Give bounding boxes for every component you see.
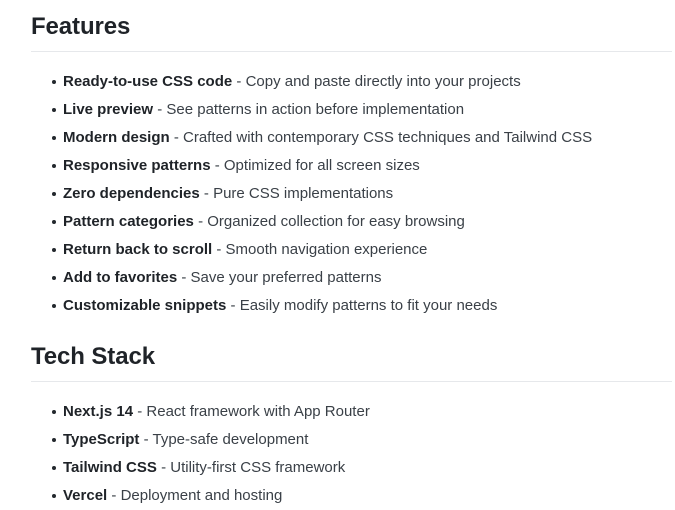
list-item-term: Zero dependencies [63, 185, 200, 202]
list-item-term: Ready-to-use CSS code [63, 73, 232, 90]
list-item-description: Save your preferred patterns [191, 269, 382, 286]
section-title-tech-stack: Tech Stack [31, 342, 672, 372]
list-item-description: Deployment and hosting [121, 487, 283, 504]
list-item: Tailwind CSS - Utility-first CSS framewo… [31, 454, 672, 482]
list-item-description: See patterns in action before implementa… [166, 101, 464, 118]
list-item-separator: - [174, 129, 179, 146]
list-item-term: Responsive patterns [63, 157, 211, 174]
list-item-separator: - [236, 73, 241, 90]
features-section-header: Features [31, 0, 672, 52]
list-item-separator: - [204, 185, 209, 202]
techstack-section-content: Next.js 14 - React framework with App Ro… [31, 382, 672, 510]
list-item-separator: - [137, 403, 142, 420]
list-item-description: Pure CSS implementations [213, 185, 393, 202]
list-item: Modern design - Crafted with contemporar… [31, 124, 672, 152]
list-item: Responsive patterns - Optimized for all … [31, 152, 672, 180]
list-item-description: Crafted with contemporary CSS techniques… [183, 129, 592, 146]
list-item: TypeScript - Type-safe development [31, 426, 672, 454]
features-section-content: Ready-to-use CSS code - Copy and paste d… [31, 52, 672, 320]
list-item-separator: - [161, 459, 166, 476]
list-item: Next.js 14 - React framework with App Ro… [31, 398, 672, 426]
list-item-term: Live preview [63, 101, 153, 118]
list-item-term: Customizable snippets [63, 297, 226, 314]
list-item-description: Copy and paste directly into your projec… [246, 73, 521, 90]
list-item-separator: - [144, 431, 149, 448]
list-item-term: Add to favorites [63, 269, 177, 286]
list-item-term: Return back to scroll [63, 241, 212, 258]
list-item-separator: - [216, 241, 221, 258]
list-item-term: Pattern categories [63, 213, 194, 230]
list-item-term: Next.js 14 [63, 403, 133, 420]
list-item-separator: - [181, 269, 186, 286]
list-item-description: Utility-first CSS framework [170, 459, 345, 476]
list-item: Ready-to-use CSS code - Copy and paste d… [31, 68, 672, 96]
list-item-description: React framework with App Router [146, 403, 369, 420]
techstack-section-header: Tech Stack [31, 320, 672, 382]
list-item: Pattern categories - Organized collectio… [31, 208, 672, 236]
list-item: Return back to scroll - Smooth navigatio… [31, 236, 672, 264]
list-item-separator: - [198, 213, 203, 230]
list-item-term: Tailwind CSS [63, 459, 157, 476]
list-item: Live preview - See patterns in action be… [31, 96, 672, 124]
list-item-description: Organized collection for easy browsing [207, 213, 465, 230]
list-item-separator: - [231, 297, 236, 314]
document-body: Features Ready-to-use CSS code - Copy an… [0, 0, 675, 510]
list-item: Add to favorites - Save your preferred p… [31, 264, 672, 292]
list-item: Customizable snippets - Easily modify pa… [31, 292, 672, 320]
list-item-term: TypeScript [63, 431, 139, 448]
list-item-description: Type-safe development [152, 431, 308, 448]
section-title-features: Features [31, 12, 672, 42]
list-item-description: Optimized for all screen sizes [224, 157, 420, 174]
list-item-description: Smooth navigation experience [226, 241, 428, 258]
list-item-separator: - [157, 101, 162, 118]
list-item-separator: - [111, 487, 116, 504]
features-list: Ready-to-use CSS code - Copy and paste d… [31, 68, 672, 320]
list-item: Vercel - Deployment and hosting [31, 482, 672, 510]
list-item-description: Easily modify patterns to fit your needs [240, 297, 498, 314]
list-item-separator: - [215, 157, 220, 174]
list-item-term: Modern design [63, 129, 170, 146]
list-item: Zero dependencies - Pure CSS implementat… [31, 180, 672, 208]
list-item-term: Vercel [63, 487, 107, 504]
tech-stack-list: Next.js 14 - React framework with App Ro… [31, 398, 672, 510]
